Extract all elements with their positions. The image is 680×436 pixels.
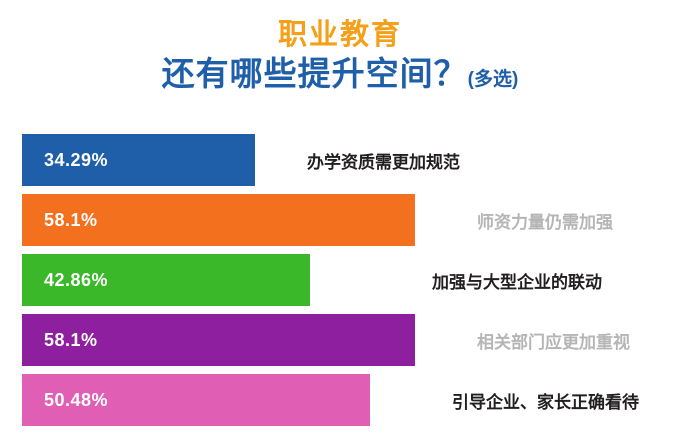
page-title-line2: 还有哪些提升空间？(多选) (0, 54, 680, 100)
chart-row: 42.86% 加强与大型企业的联动 (22, 254, 662, 306)
bar-category-label: 师资力量仍需加强 (477, 194, 613, 246)
title-block: 职业教育 还有哪些提升空间？(多选) (0, 18, 680, 100)
bar-category-label: 相关部门应更加重视 (477, 314, 630, 366)
page-title-line1: 职业教育 (0, 18, 680, 52)
chart-row: 58.1% 相关部门应更加重视 (22, 314, 662, 366)
bar-chart: 34.29% 办学资质需更加规范 58.1% 师资力量仍需加强 42.86% 加… (22, 134, 662, 426)
chart-row: 50.48% 引导企业、家长正确看待 (22, 374, 662, 426)
chart-row: 58.1% 师资力量仍需加强 (22, 194, 662, 246)
bar: 34.29% (22, 134, 255, 186)
infographic-page: 职业教育 还有哪些提升空间？(多选) 34.29% 办学资质需更加规范 58.1… (0, 0, 680, 436)
bar: 58.1% (22, 194, 415, 246)
bar-category-label: 加强与大型企业的联动 (432, 254, 602, 306)
bar: 58.1% (22, 314, 415, 366)
page-title-line2-text: 还有哪些提升空间？ (162, 55, 468, 92)
chart-row: 34.29% 办学资质需更加规范 (22, 134, 662, 186)
bar-value-label: 42.86% (22, 270, 108, 291)
bar-category-label: 办学资质需更加规范 (307, 134, 460, 186)
bar-value-label: 50.48% (22, 390, 108, 411)
bar: 42.86% (22, 254, 310, 306)
bar-value-label: 58.1% (22, 330, 98, 351)
bar: 50.48% (22, 374, 370, 426)
bar-value-label: 58.1% (22, 210, 98, 231)
bar-category-label: 引导企业、家长正确看待 (452, 374, 639, 426)
bar-value-label: 34.29% (22, 150, 108, 171)
page-title-suffix: (多选) (468, 69, 519, 90)
